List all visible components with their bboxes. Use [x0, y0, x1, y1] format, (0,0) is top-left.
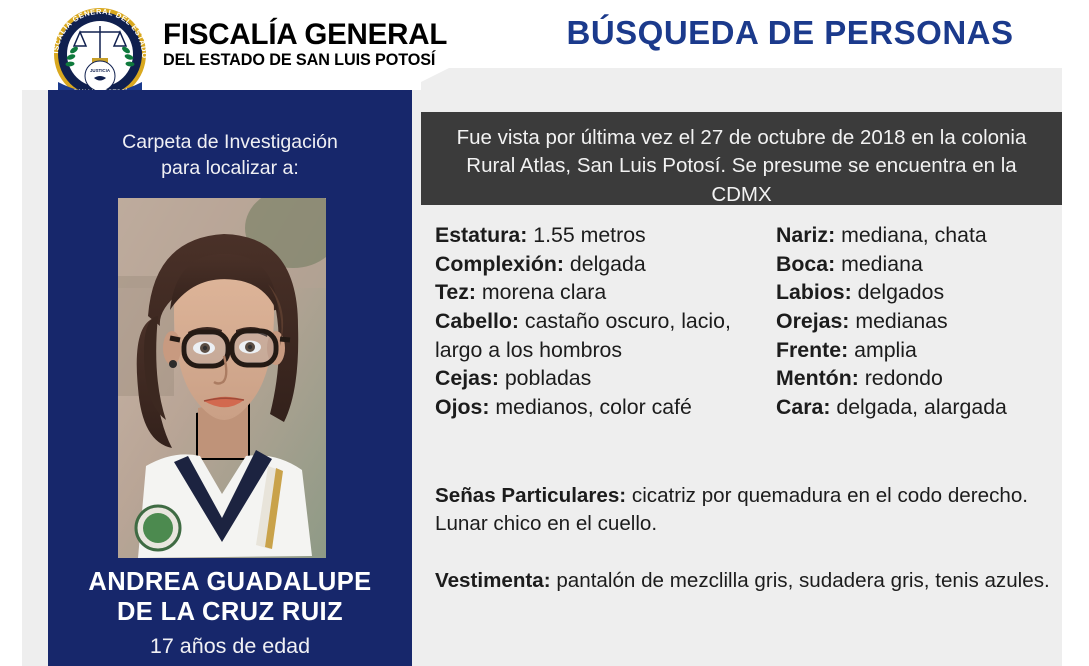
characteristic-item: Mentón: redondo [776, 364, 1061, 393]
characteristic-item: Frente: amplia [776, 336, 1061, 365]
additional-notes: Señas Particulares: cicatriz por quemadu… [435, 482, 1050, 596]
characteristic-label: Mentón: [776, 366, 859, 390]
characteristic-value: delgada [564, 252, 646, 276]
agency-name-line2: DEL ESTADO DE SAN LUIS POTOSÍ [163, 52, 423, 68]
characteristic-item: Complexión: delgada [435, 250, 765, 279]
characteristic-item: Labios: delgados [776, 278, 1061, 307]
person-photo [118, 198, 326, 558]
characteristic-value: medianas [849, 309, 947, 333]
characteristic-label: Estatura: [435, 223, 527, 247]
characteristic-value: redondo [859, 366, 943, 390]
characteristic-item: Cara: delgada, alargada [776, 393, 1061, 422]
characteristic-item: Ojos: medianos, color café [435, 393, 765, 422]
agency-name: FISCALÍA GENERAL DEL ESTADO DE SAN LUIS … [163, 20, 423, 68]
distinguishing-marks-label: Señas Particulares: [435, 484, 626, 507]
characteristic-label: Nariz: [776, 223, 835, 247]
characteristics-column-right: Nariz: mediana, chataBoca: medianaLabios… [776, 221, 1061, 421]
svg-text:JUSTICIA: JUSTICIA [90, 68, 111, 73]
case-file-caption: Carpeta de Investigación para localizar … [48, 130, 412, 182]
characteristic-label: Boca: [776, 252, 835, 276]
characteristic-label: Cabello: [435, 309, 519, 333]
characteristic-item: Cejas: pobladas [435, 364, 765, 393]
characteristic-label: Complexión: [435, 252, 564, 276]
panel-gutter-left [22, 90, 48, 666]
characteristic-value: mediana, chata [835, 223, 987, 247]
characteristic-value: delgados [852, 280, 944, 304]
page-title: BÚSQUEDA DE PERSONAS [520, 14, 1060, 52]
characteristic-label: Tez: [435, 280, 476, 304]
characteristic-value: mediana [835, 252, 923, 276]
characteristics-column-left: Estatura: 1.55 metrosComplexión: delgada… [435, 221, 765, 421]
person-name-line2: DE LA CRUZ RUIZ [117, 598, 343, 626]
characteristic-item: Tez: morena clara [435, 278, 765, 307]
characteristic-value: amplia [848, 338, 917, 362]
characteristic-value: delgada, alargada [830, 395, 1006, 419]
characteristic-item: Cabello: castaño oscuro, lacio, largo a … [435, 307, 765, 364]
last-seen-text: Fue vista por última vez el 27 de octubr… [447, 124, 1036, 209]
clothing-value: pantalón de mezclilla gris, sudadera gri… [556, 569, 1049, 592]
characteristic-item: Orejas: medianas [776, 307, 1061, 336]
characteristic-label: Cejas: [435, 366, 499, 390]
characteristic-label: Orejas: [776, 309, 849, 333]
characteristic-label: Labios: [776, 280, 852, 304]
agency-name-line1: FISCALÍA GENERAL [163, 20, 423, 50]
clothing-label: Vestimenta: [435, 569, 551, 592]
panel-gutter-right [412, 90, 421, 666]
characteristic-item: Estatura: 1.55 metros [435, 221, 765, 250]
characteristic-value: 1.55 metros [527, 223, 645, 247]
characteristic-value: pobladas [499, 366, 591, 390]
fiscalia-seal-logo: FISCALÍA GENERAL DEL ESTADO [44, 4, 156, 104]
person-name-block: ANDREA GUADALUPE DE LA CRUZ RUIZ 17 años… [48, 568, 412, 659]
person-name: ANDREA GUADALUPE DE LA CRUZ RUIZ [48, 568, 412, 627]
case-file-line2: para localizar a: [161, 157, 299, 179]
characteristic-value: morena clara [476, 280, 606, 304]
distinguishing-marks: Señas Particulares: cicatriz por quemadu… [435, 482, 1050, 538]
person-age: 17 años de edad [48, 634, 412, 659]
characteristic-item: Nariz: mediana, chata [776, 221, 1061, 250]
characteristic-value: medianos, color café [489, 395, 691, 419]
characteristic-label: Ojos: [435, 395, 489, 419]
last-seen-banner: Fue vista por última vez el 27 de octubr… [421, 112, 1062, 205]
physical-characteristics: Estatura: 1.55 metrosComplexión: delgada… [421, 221, 1062, 431]
clothing-description: Vestimenta: pantalón de mezclilla gris, … [435, 567, 1050, 595]
missing-person-poster: FISCALÍA GENERAL DEL ESTADO [0, 0, 1089, 666]
case-file-line1: Carpeta de Investigación [122, 131, 338, 153]
person-name-line1: ANDREA GUADALUPE [88, 568, 371, 596]
characteristic-label: Frente: [776, 338, 848, 362]
characteristic-item: Boca: mediana [776, 250, 1061, 279]
characteristic-label: Cara: [776, 395, 830, 419]
person-panel: Carpeta de Investigación para localizar … [48, 90, 412, 666]
